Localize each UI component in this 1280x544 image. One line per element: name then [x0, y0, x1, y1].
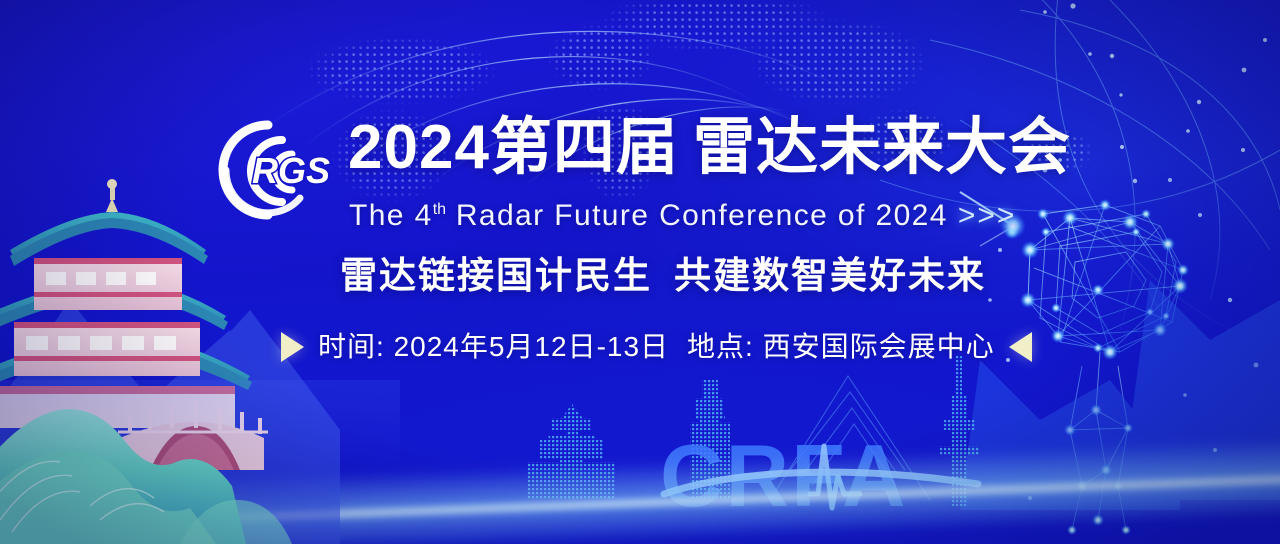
place-value: 西安国际会展中心 — [763, 331, 995, 362]
event-info-row: 时间: 2024年5月12日-13日地点: 西安国际会展中心 — [281, 330, 1032, 364]
event-info-text: 时间: 2024年5月12日-13日地点: 西安国际会展中心 — [318, 330, 995, 364]
rgs-logo-text: RGS — [252, 150, 330, 191]
play-triangle-left-icon — [1009, 332, 1032, 362]
chevrons-icon: >>> — [958, 199, 1017, 232]
subtitle-pre: The 4 — [349, 199, 433, 232]
rgs-logo: RGS — [196, 116, 342, 224]
title-main: 雷达未来大会 — [693, 113, 1071, 182]
slogan: 雷达链接国计民生共建数智美好未来 — [340, 253, 986, 299]
slogan-right: 共建数智美好未来 — [674, 255, 986, 296]
play-triangle-right-icon — [281, 332, 304, 362]
place-label: 地点: — [687, 331, 754, 362]
conference-banner: CRFA — [0, 0, 1280, 544]
subtitle-post: Radar Future Conference of 2024 — [456, 199, 948, 232]
slogan-left: 雷达链接国计民生 — [340, 255, 652, 296]
subtitle: The 4th Radar Future Conference of 2024>… — [349, 192, 1016, 234]
page-title: 2024第四届雷达未来大会 — [348, 112, 1071, 184]
time-value: 2024年5月12日-13日 — [394, 331, 669, 362]
subtitle-ordinal: th — [433, 201, 446, 218]
title-year: 2024第四届 — [348, 113, 679, 182]
time-label: 时间: — [318, 331, 385, 362]
